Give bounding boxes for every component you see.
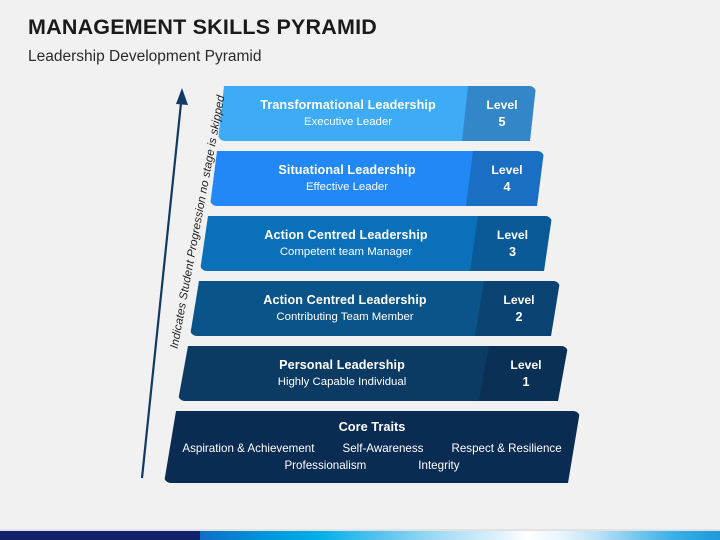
pyramid-badge-text-level-4: Level 4 [472, 151, 542, 206]
pyramid-row-level-3[interactable]: Action Centred Leadership Competent team… [200, 216, 552, 271]
header: MANAGEMENT SKILLS PYRAMID Leadership Dev… [28, 14, 688, 68]
pyramid-row-text-level-5: Transformational Leadership Executive Le… [228, 86, 468, 141]
pyramid-row-title: Transformational Leadership [260, 98, 436, 113]
pyramid-row-text-level-2: Action Centred Leadership Contributing T… [206, 281, 484, 336]
pyramid-row-subtitle: Highly Capable Individual [278, 376, 407, 389]
core-trait: Integrity [418, 458, 459, 475]
core-trait: Self-Awareness [342, 441, 423, 458]
pyramid-row-subtitle: Executive Leader [304, 116, 392, 129]
pyramid-badge-text-level-1: Level 1 [488, 346, 564, 401]
core-trait: Aspiration & Achievement [182, 441, 314, 458]
footer-bar-gradient-segment [200, 531, 720, 540]
badge-word: Level [486, 98, 517, 112]
footer-bar-dark-segment [0, 531, 200, 540]
pyramid-row-subtitle: Contributing Team Member [276, 311, 413, 324]
pyramid-row-level-2[interactable]: Action Centred Leadership Contributing T… [190, 281, 560, 336]
page-title: MANAGEMENT SKILLS PYRAMID [28, 14, 688, 40]
core-trait: Professionalism [284, 458, 366, 475]
badge-number: 1 [522, 375, 529, 389]
pyramid-badge-text-level-2: Level 2 [482, 281, 556, 336]
management-skills-pyramid: Transformational Leadership Executive Le… [0, 86, 720, 486]
pyramid-row-text-level-1: Personal Leadership Highly Capable Indiv… [196, 346, 488, 401]
core-trait: Respect & Resilience [451, 441, 561, 458]
pyramid-row-subtitle: Effective Leader [306, 181, 388, 194]
pyramid-row-title: Action Centred Leadership [263, 293, 426, 308]
pyramid-row-title: Situational Leadership [278, 163, 415, 178]
pyramid-base-core-traits[interactable]: Core Traits Aspiration & Achievement Sel… [164, 411, 580, 483]
core-traits-content: Core Traits Aspiration & Achievement Sel… [164, 411, 580, 483]
badge-number: 4 [503, 180, 510, 194]
pyramid-row-level-1[interactable]: Personal Leadership Highly Capable Indiv… [178, 346, 568, 401]
core-traits-line-2: Professionalism Integrity [258, 458, 485, 475]
badge-word: Level [497, 228, 528, 242]
pyramid-row-text-level-4: Situational Leadership Effective Leader [222, 151, 472, 206]
badge-word: Level [491, 163, 522, 177]
page-subtitle: Leadership Development Pyramid [28, 46, 688, 68]
pyramid-row-title: Action Centred Leadership [264, 228, 427, 243]
badge-word: Level [510, 358, 541, 372]
badge-number: 2 [515, 310, 522, 324]
pyramid-row-text-level-3: Action Centred Leadership Competent team… [214, 216, 478, 271]
badge-word: Level [503, 293, 534, 307]
pyramid-row-subtitle: Competent team Manager [280, 246, 412, 259]
core-traits-line-1: Aspiration & Achievement Self-Awareness … [168, 441, 575, 458]
pyramid-badge-text-level-3: Level 3 [477, 216, 548, 271]
pyramid-row-level-5[interactable]: Transformational Leadership Executive Le… [218, 86, 536, 141]
pyramid-row-level-4[interactable]: Situational Leadership Effective Leader … [210, 151, 544, 206]
badge-number: 3 [509, 245, 516, 259]
core-traits-title: Core Traits [339, 419, 406, 434]
badge-number: 5 [498, 115, 505, 129]
footer-accent-bar [0, 531, 720, 540]
pyramid-row-title: Personal Leadership [279, 358, 405, 373]
pyramid-badge-text-level-5: Level 5 [468, 86, 536, 141]
